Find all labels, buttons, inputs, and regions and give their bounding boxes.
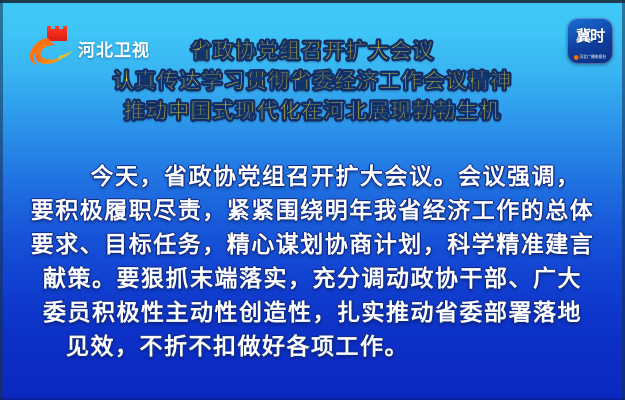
- body-line-6: 见效，不折不扣做好各项工作。: [0, 330, 625, 364]
- body-line-4: 献策。要狠抓末端落实，充分调动政协干部、广大: [0, 262, 625, 296]
- body-line-1: 今天，省政协党组召开扩大会议。会议强调，: [0, 160, 625, 194]
- body-line-2: 要积极履职尽责，紧紧围绕明年我省经济工作的总体: [0, 194, 625, 228]
- body-copy-block: 今天，省政协党组召开扩大会议。会议强调， 要积极履职尽责，紧紧围绕明年我省经济工…: [0, 160, 625, 364]
- headline-line-1: 省政协党组召开扩大会议: [0, 36, 625, 66]
- broadcast-screen: 河北卫视 冀时 河北广播电视台 省政协党组召开扩大会议 认真传达学习贯彻省委经济…: [0, 0, 625, 400]
- headline-line-3: 推动中国式现代化在河北展现勃勃生机: [0, 96, 625, 126]
- headline-block: 省政协党组召开扩大会议 认真传达学习贯彻省委经济工作会议精神 推动中国式现代化在…: [0, 36, 625, 126]
- body-line-3: 要求、目标任务，精心谋划协商计划，科学精准建言: [0, 228, 625, 262]
- headline-line-2: 认真传达学习贯彻省委经济工作会议精神: [0, 66, 625, 96]
- body-line-5: 委员积极性主动性创造性，扎实推动省委部署落地: [0, 296, 625, 330]
- frame-edge-top: [0, 0, 625, 3]
